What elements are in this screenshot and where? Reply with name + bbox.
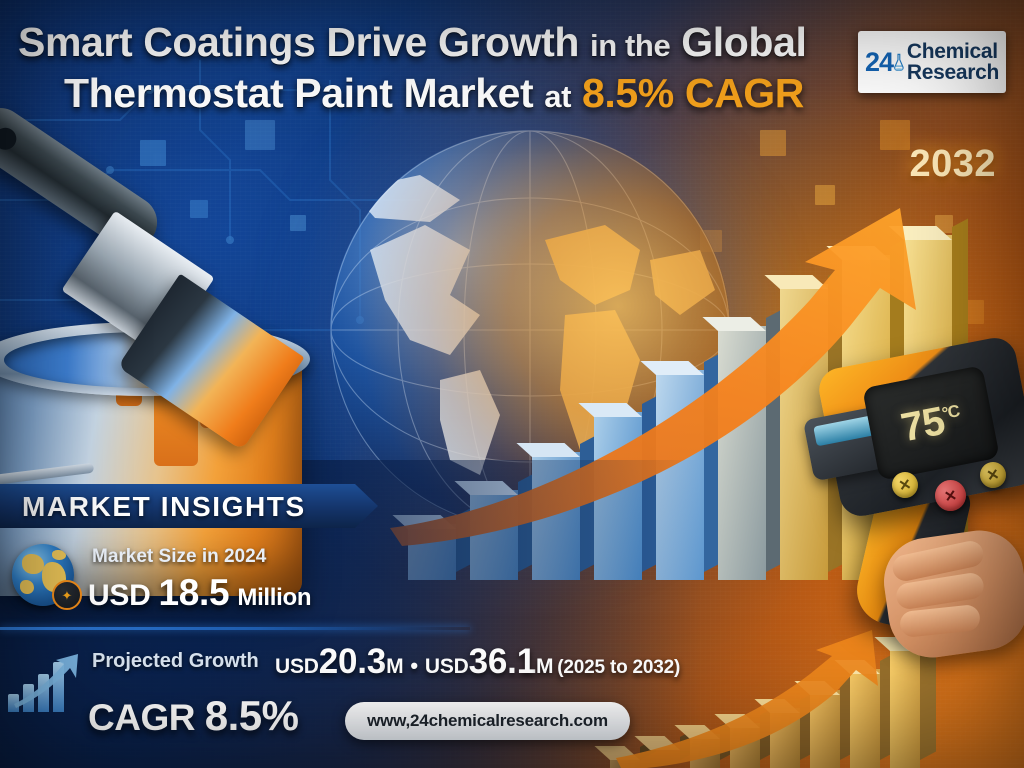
website-url-pill[interactable]: www,24chemicalresearch.com (345, 702, 630, 740)
market-size-currency: USD (88, 579, 150, 612)
growth-arrow-small-icon (12, 654, 82, 710)
market-size-value: USD 18.5 Million (88, 572, 311, 614)
website-url: www,24chemicalresearch.com (367, 711, 608, 731)
title-line1-part3: Global (681, 19, 806, 65)
growth-from-currency: USD (275, 655, 319, 678)
market-size-number: 18.5 (159, 572, 230, 613)
infographic-canvas: Smart Coatings Drive Growth in the Globa… (0, 0, 1024, 768)
insights-divider (0, 627, 470, 630)
projected-growth-label: Projected Growth (92, 650, 259, 673)
market-size-unit: Million (237, 584, 311, 611)
cagr-label: CAGR (88, 697, 195, 738)
temperature-unit: °C (940, 401, 960, 423)
insight-row-market-size: ✦ Market Size in 2024 USD 18.5 Million (0, 540, 480, 616)
growth-from-value: 20.3 (319, 642, 386, 681)
forecast-year-label: 2032 (909, 143, 996, 186)
title-line2-part1: Thermostat Paint Market (64, 70, 533, 116)
growth-separator: • (410, 653, 418, 678)
growth-chart-icon (8, 650, 80, 720)
growth-to-value: 36.1 (469, 642, 536, 681)
logo-line2: Research (907, 62, 999, 83)
growth-to-unit: M (536, 655, 553, 678)
projected-growth-values: USD20.3M•USD36.1M(2025 to 2032) (275, 642, 680, 682)
logo-number: 24 (865, 49, 893, 76)
title-cagr-accent: 8.5% CAGR (582, 70, 804, 116)
flask-icon (893, 42, 905, 82)
title-line1-part1: Smart Coatings Drive Growth (18, 19, 579, 65)
logo-line1: Chemical (907, 41, 999, 62)
infrared-thermometer-graphic: 75°C ✕ ✕ ✕ (800, 352, 1024, 652)
page-title: Smart Coatings Drive Growth in the Globa… (18, 22, 858, 115)
market-insights-banner: MARKET INSIGHTS (0, 484, 378, 528)
growth-to-currency: USD (425, 655, 469, 678)
growth-from-unit: M (386, 655, 403, 678)
market-insights-title: MARKET INSIGHTS (22, 491, 306, 523)
cagr-value-block: CAGR 8.5% (88, 692, 298, 740)
market-size-label: Market Size in 2024 (92, 546, 266, 568)
insight-row-projected-growth: Projected Growth USD20.3M•USD36.1M(2025 … (0, 640, 820, 760)
title-line2-part2: at (544, 79, 571, 114)
title-line1-part2: in the (590, 28, 670, 63)
growth-period: (2025 to 2032) (557, 657, 680, 678)
company-logo[interactable]: 24 Chemical Research (858, 31, 1006, 93)
globe-badge-icon: ✦ (52, 580, 82, 610)
cagr-value: 8.5% (205, 692, 299, 739)
